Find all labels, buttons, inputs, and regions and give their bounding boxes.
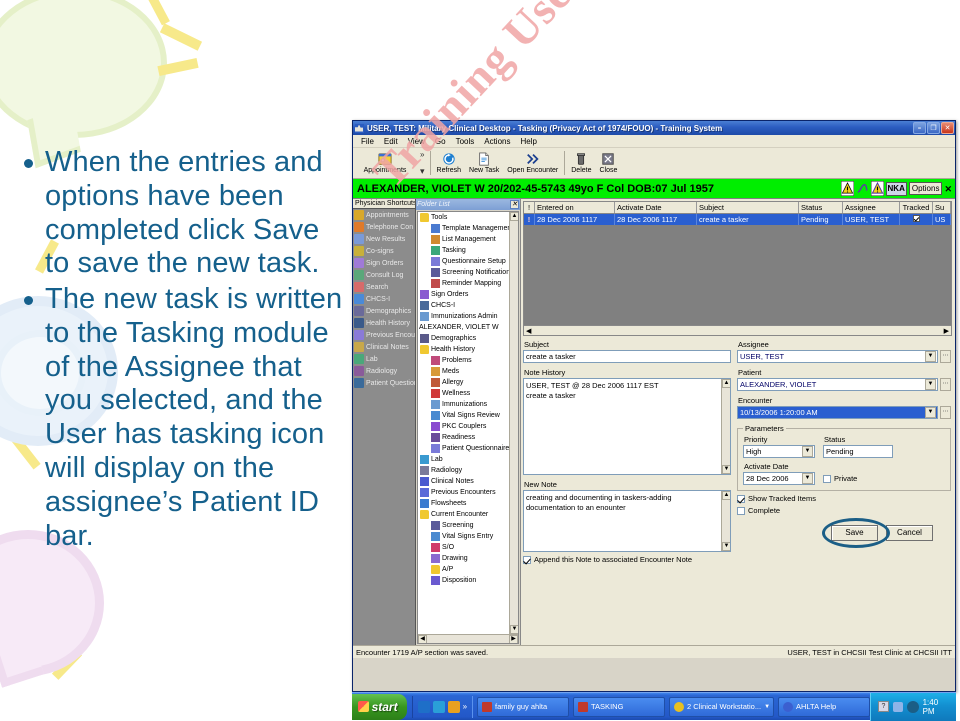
- questionnaire-icon: [431, 257, 440, 266]
- tree-node-label: Current Encounter: [431, 509, 488, 520]
- folder-icon: [420, 345, 429, 354]
- toolbar-label: Refresh: [437, 167, 462, 174]
- status-input: Pending: [823, 445, 893, 458]
- note-history-scrollbar[interactable]: ▲ ▼: [721, 379, 730, 474]
- clinical-notes-icon: [420, 477, 429, 486]
- tree-vertical-scrollbar[interactable]: ▲ ▼: [509, 212, 518, 634]
- encounter-combobox[interactable]: 10/13/2006 1:20:00 AM ▼: [737, 406, 938, 419]
- toolbar: Appointments » ▾ Refresh New Task: [353, 148, 955, 179]
- encounter-row: 10/13/2006 1:20:00 AM ▼ ⋯: [737, 406, 951, 419]
- cell-subject: create a tasker: [697, 214, 799, 225]
- minimize-button[interactable]: –: [913, 122, 926, 134]
- cancel-button[interactable]: Cancel: [886, 525, 933, 541]
- status-context: USER, TEST in CHCSII Test Clinic at CHCS…: [787, 648, 952, 657]
- cell-tracked-checkbox[interactable]: [900, 214, 933, 225]
- taskbar-clock[interactable]: 1:40 PM: [923, 698, 952, 716]
- tree-node-pkc-couplers[interactable]: PKC Couplers: [418, 421, 518, 432]
- internet-explorer-icon[interactable]: [418, 701, 430, 713]
- shortcut-item-telephone-con[interactable]: Telephone Con: [353, 221, 415, 233]
- start-label: start: [372, 700, 398, 714]
- folder-tree[interactable]: ToolsTemplate ManagementList ManagementT…: [417, 211, 519, 644]
- scroll-down-arrow-icon[interactable]: ▼: [510, 625, 519, 634]
- tree-node-label: A/P: [442, 564, 453, 575]
- tree-node-wellness[interactable]: Wellness: [418, 388, 518, 399]
- assignee-value: USER, TEST: [740, 352, 925, 361]
- parameters-groupbox: Parameters Priority High ▼ Status: [737, 424, 951, 491]
- signature-pen-icon[interactable]: [856, 181, 869, 196]
- tree-node-clinical-notes[interactable]: Clinical Notes: [418, 476, 518, 487]
- immunizations-icon: [431, 400, 440, 409]
- refresh-icon: [442, 152, 456, 166]
- tree-node-vital-signs-review[interactable]: Vital Signs Review: [418, 410, 518, 421]
- tree-node-label: Readiness: [442, 432, 475, 443]
- tree-node-sign-orders[interactable]: Sign Orders: [418, 289, 518, 300]
- new-note-textarea[interactable]: creating and documenting in taskers-addi…: [523, 490, 731, 552]
- decorative-ray: [144, 0, 170, 25]
- tree-node-label: Tasking: [442, 245, 466, 256]
- physician-shortcuts-list: AppointmentsTelephone ConNew ResultsCo-s…: [353, 209, 415, 389]
- list-icon: [431, 235, 440, 244]
- shortcut-item-chcs-i[interactable]: CHCS-I: [353, 293, 415, 305]
- column-header-entered-on[interactable]: Entered on: [535, 202, 615, 213]
- tree-node-label: Allergy: [442, 377, 463, 388]
- sign-orders-icon: [420, 290, 429, 299]
- shortcut-label: Telephone Con: [366, 224, 413, 231]
- tree-node-questionnaire-setup[interactable]: Questionnaire Setup: [418, 256, 518, 267]
- tree-node-radiology[interactable]: Radiology: [418, 465, 518, 476]
- tree-node-list-management[interactable]: List Management: [418, 234, 518, 245]
- private-checkbox[interactable]: [823, 475, 831, 483]
- toolbar-button-appointments[interactable]: Appointments: [353, 148, 417, 178]
- tray-network-icon[interactable]: [893, 702, 903, 712]
- tree-node-label: Disposition: [442, 575, 476, 586]
- patient-bar-options-button[interactable]: Options: [909, 182, 943, 195]
- shortcut-icon: [354, 318, 364, 328]
- windows-flag-icon: [358, 701, 369, 712]
- windows-taskbar: start » family guy ahlta TASKING 2 Clini…: [352, 692, 956, 720]
- toolbar-separator: [564, 151, 565, 175]
- activate-date-field: Activate Date 28 Dec 2006 ▼: [743, 462, 815, 485]
- folder-list-close-icon[interactable]: ✕: [510, 200, 519, 209]
- chevron-down-icon[interactable]: ▼: [764, 704, 770, 710]
- scroll-up-arrow-icon[interactable]: ▲: [510, 212, 519, 221]
- parameters-legend: Parameters: [743, 424, 786, 433]
- scroll-right-arrow-icon[interactable]: ▶: [942, 327, 951, 335]
- tree-node-alexander-violet-w[interactable]: ALEXANDER, VIOLET W: [418, 322, 518, 333]
- new-task-icon: [477, 152, 491, 166]
- close-icon: [601, 152, 615, 166]
- shortcut-icon: [354, 330, 364, 340]
- allergy-status-badge[interactable]: NKA: [886, 182, 907, 196]
- tray-unknown-icon[interactable]: ?: [878, 701, 889, 712]
- shortcut-item-appointments[interactable]: Appointments: [353, 209, 415, 221]
- patient-demographics-text: ALEXANDER, VIOLET W 20/202-45-5743 49yo …: [357, 183, 839, 195]
- menu-item-file[interactable]: File: [356, 136, 379, 147]
- so-icon: [431, 543, 440, 552]
- show-tracked-items-checkbox[interactable]: [737, 495, 745, 503]
- questionnaire-icon: [431, 444, 440, 453]
- chcs-icon: [420, 301, 429, 310]
- open-encounter-icon: [526, 152, 540, 166]
- folder-list-title: Folder List: [417, 201, 510, 208]
- toolbar-button-close[interactable]: Close: [595, 148, 621, 178]
- toolbar-button-delete[interactable]: Delete: [567, 148, 595, 178]
- tree-node-label: Wellness: [442, 388, 470, 399]
- tree-node-label: Flowsheets: [431, 498, 466, 509]
- meds-icon: [431, 367, 440, 376]
- note-history-value: USER, TEST @ 28 Dec 2006 1117 EST create…: [526, 381, 728, 400]
- shortcut-label: CHCS-I: [366, 296, 390, 303]
- tree-node-tasking[interactable]: Tasking: [418, 245, 518, 256]
- new-note-label: New Note: [524, 480, 731, 489]
- decorative-ray: [52, 649, 82, 680]
- tasking-icon: [431, 246, 440, 255]
- shortcut-label: Appointments: [366, 212, 409, 219]
- window-body: Physician Shortcuts AppointmentsTelephon…: [353, 199, 955, 645]
- tree-node-label: Patient Questionnaires: [442, 443, 513, 454]
- tree-node-problems[interactable]: Problems: [418, 355, 518, 366]
- window-title: USER, TEST: Military Clinical Desktop - …: [367, 124, 912, 133]
- cell-status: Pending: [799, 214, 843, 225]
- tree-node-label: Health History: [431, 344, 475, 355]
- screening-icon: [431, 521, 440, 530]
- private-checkbox-row[interactable]: Private: [823, 474, 857, 483]
- tasking-alert-icon[interactable]: [871, 181, 884, 196]
- subject-input[interactable]: create a tasker: [523, 350, 731, 363]
- decorative-pink-bubble-tail: [0, 630, 44, 687]
- scroll-down-arrow-icon[interactable]: ▼: [722, 465, 731, 474]
- table-row[interactable]: ! 28 Dec 2006 1117 28 Dec 2006 1117 crea…: [524, 214, 951, 225]
- shortcut-item-patient-question[interactable]: Patient Question: [353, 377, 415, 389]
- tree-node-reminder-mapping[interactable]: Reminder Mapping: [418, 278, 518, 289]
- cell-activate-date: 28 Dec 2006 1117: [615, 214, 697, 225]
- toolbar-label: Close: [599, 167, 617, 174]
- tree-node-label: Lab: [431, 454, 443, 465]
- tree-node-immunizations[interactable]: Immunizations: [418, 399, 518, 410]
- tree-horizontal-scrollbar[interactable]: ◀ ▶: [418, 634, 518, 643]
- taskbar-item-ahlta-help[interactable]: AHLTA Help: [778, 697, 870, 717]
- allergy-icon: [431, 378, 440, 387]
- append-note-label: Append this Note to associated Encounter…: [534, 556, 692, 565]
- tree-node-vital-signs-entry[interactable]: Vital Signs Entry: [418, 531, 518, 542]
- save-button[interactable]: Save: [831, 525, 878, 541]
- menu-bar: File Edit View Go Tools Actions Help: [353, 135, 955, 148]
- parameters-row-2: Activate Date 28 Dec 2006 ▼ Private: [743, 462, 945, 485]
- disposition-icon: [431, 576, 440, 585]
- shortcut-label: Clinical Notes: [366, 344, 409, 351]
- ahlta-icon: [674, 702, 684, 712]
- new-note-value: creating and documenting in taskers-addi…: [526, 493, 728, 512]
- tree-node-a-p[interactable]: A/P: [418, 564, 518, 575]
- calendar-icon: [378, 152, 392, 166]
- quicklaunch-overflow-icon[interactable]: »: [463, 702, 467, 711]
- column-header-activate-date[interactable]: Activate Date: [615, 202, 697, 213]
- shortcut-label: Sign Orders: [366, 260, 403, 267]
- tree-node-readiness[interactable]: Readiness: [418, 432, 518, 443]
- column-header-su[interactable]: Su: [933, 202, 951, 213]
- tree-node-label: Drawing: [442, 553, 468, 564]
- system-tray: ? 1:40 PM: [870, 693, 956, 721]
- shortcut-label: Co-signs: [366, 248, 394, 255]
- encounter-value: 10/13/2006 1:20:00 AM: [740, 408, 925, 417]
- start-button[interactable]: start: [352, 694, 407, 720]
- decorative-ray: [160, 23, 202, 50]
- complete-label: Complete: [748, 506, 780, 515]
- patient-lookup-button[interactable]: ⋯: [940, 378, 951, 391]
- status-message: Encounter 1719 A/P section was saved.: [356, 648, 787, 657]
- scroll-right-arrow-icon[interactable]: ▶: [509, 635, 518, 644]
- shortcut-label: New Results: [366, 236, 405, 243]
- chevron-down-icon[interactable]: ▼: [925, 351, 936, 362]
- patient-value: ALEXANDER, VIOLET: [740, 380, 925, 389]
- template-icon: [431, 224, 440, 233]
- menu-item-help[interactable]: Help: [515, 136, 541, 147]
- cell-entered-on: 28 Dec 2006 1117: [535, 214, 615, 225]
- shortcut-label: Lab: [366, 356, 378, 363]
- readiness-icon: [431, 433, 440, 442]
- shortcut-icon: [354, 306, 364, 316]
- shortcut-label: Patient Question: [366, 380, 416, 387]
- tree-node-label: Immunizations Admin: [431, 311, 498, 322]
- encounter-lookup-button[interactable]: ⋯: [940, 406, 951, 419]
- chevron-down-icon[interactable]: ▼: [925, 379, 936, 390]
- encounter-label: Encounter: [738, 396, 951, 405]
- tree-node-label: PKC Couplers: [442, 421, 486, 432]
- physician-shortcuts-panel: Physician Shortcuts AppointmentsTelephon…: [353, 199, 416, 645]
- tree-node-screening[interactable]: Screening: [418, 520, 518, 531]
- alert-warning-icon[interactable]: [841, 181, 854, 196]
- subject-label: Subject: [524, 340, 731, 349]
- shortcut-item-health-history[interactable]: Health History: [353, 317, 415, 329]
- close-button[interactable]: ✕: [941, 122, 954, 134]
- chevron-down-icon: ▾: [420, 166, 425, 177]
- column-header-subject[interactable]: Subject: [697, 202, 799, 213]
- priority-combobox[interactable]: High ▼: [743, 445, 815, 458]
- show-tracked-items-label: Show Tracked Items: [748, 494, 816, 503]
- decorative-green-bubble: [0, 0, 167, 138]
- status-field: Status Pending: [823, 435, 893, 458]
- patient-combobox[interactable]: ALEXANDER, VIOLET ▼: [737, 378, 938, 391]
- scroll-left-arrow-icon[interactable]: ◀: [524, 327, 533, 335]
- menu-item-go[interactable]: Go: [430, 136, 451, 147]
- shortcut-item-radiology[interactable]: Radiology: [353, 365, 415, 377]
- immunizations-icon: [420, 312, 429, 321]
- drawing-icon: [431, 554, 440, 563]
- tree-node-label: List Management: [442, 234, 496, 245]
- tree-node-label: Vital Signs Review: [442, 410, 500, 421]
- priority-field: Priority High ▼: [743, 435, 815, 458]
- patient-id-bar: ALEXANDER, VIOLET W 20/202-45-5743 49yo …: [353, 179, 955, 199]
- tree-node-chcs-i[interactable]: CHCS-I: [418, 300, 518, 311]
- folder-icon: [420, 213, 429, 222]
- task-grid-header-row: ! Entered on Activate Date Subject Statu…: [524, 202, 951, 214]
- shortcut-item-new-results[interactable]: New Results: [353, 233, 415, 245]
- folder-icon[interactable]: [448, 701, 460, 713]
- toolbar-button-refresh[interactable]: Refresh: [433, 148, 466, 178]
- shortcut-icon: [354, 294, 364, 304]
- assignee-label: Assignee: [738, 340, 951, 349]
- window-titlebar[interactable]: USER, TEST: Military Clinical Desktop - …: [353, 121, 955, 135]
- tree-node-drawing[interactable]: Drawing: [418, 553, 518, 564]
- shortcut-item-lab[interactable]: Lab: [353, 353, 415, 365]
- tree-node-label: Screening Notifications: [442, 267, 514, 278]
- menu-item-view[interactable]: View: [403, 136, 430, 147]
- chevron-down-icon[interactable]: ▼: [802, 473, 813, 484]
- taskbar-item-tasking[interactable]: TASKING: [573, 697, 665, 717]
- toolbar-button-open-encounter[interactable]: Open Encounter: [503, 148, 562, 178]
- tree-node-label: Demographics: [431, 333, 476, 344]
- tree-node-disposition[interactable]: Disposition: [418, 575, 518, 586]
- powerpoint-icon: [578, 702, 588, 712]
- tree-node-immunizations-admin[interactable]: Immunizations Admin: [418, 311, 518, 322]
- show-tracked-items-row[interactable]: Show Tracked Items: [737, 494, 951, 503]
- column-header-assignee[interactable]: Assignee: [843, 202, 900, 213]
- tray-sound-icon[interactable]: [907, 701, 919, 713]
- grid-horizontal-scrollbar[interactable]: ◀ ▶: [524, 325, 951, 335]
- shortcut-icon: [354, 234, 364, 244]
- complete-row[interactable]: Complete: [737, 506, 951, 515]
- tree-node-template-management[interactable]: Template Management: [418, 223, 518, 234]
- demographics-icon: [420, 334, 429, 343]
- assignee-lookup-button[interactable]: ⋯: [940, 350, 951, 363]
- activate-date-label: Activate Date: [744, 462, 815, 471]
- quick-launch-bar: »: [412, 696, 473, 718]
- application-icon: [355, 124, 364, 133]
- scroll-up-arrow-icon[interactable]: ▲: [722, 379, 731, 388]
- tree-node-allergy[interactable]: Allergy: [418, 377, 518, 388]
- pkc-icon: [431, 422, 440, 431]
- column-header-tracked[interactable]: Tracked: [900, 202, 933, 213]
- shortcut-item-demographics[interactable]: Demographics: [353, 305, 415, 317]
- tree-node-meds[interactable]: Meds: [418, 366, 518, 377]
- note-history-label: Note History: [524, 368, 731, 377]
- tree-node-label: Clinical Notes: [431, 476, 474, 487]
- tree-node-health-history[interactable]: Health History: [418, 344, 518, 355]
- tree-node-previous-encounters[interactable]: Previous Encounters: [418, 487, 518, 498]
- shortcut-item-clinical-notes[interactable]: Clinical Notes: [353, 341, 415, 353]
- shortcut-icon: [354, 378, 364, 388]
- shortcut-item-sign-orders[interactable]: Sign Orders: [353, 257, 415, 269]
- powerpoint-icon: [482, 702, 492, 712]
- append-note-checkbox[interactable]: [523, 556, 531, 564]
- folder-list-header[interactable]: Folder List ✕: [416, 199, 520, 210]
- shortcut-icon: [354, 354, 364, 364]
- menu-item-tools[interactable]: Tools: [451, 136, 480, 147]
- priority-label: Priority: [744, 435, 815, 444]
- lab-icon: [420, 455, 429, 464]
- shortcut-label: Previous Encou: [366, 332, 415, 339]
- tree-node-lab[interactable]: Lab: [418, 454, 518, 465]
- list-item: When the entries and options have been c…: [10, 146, 344, 281]
- bullet-text: The new task is written to the Tasking m…: [45, 283, 344, 553]
- tree-node-label: Vital Signs Entry: [442, 531, 493, 542]
- patient-row: ALEXANDER, VIOLET ▼ ⋯: [737, 378, 951, 391]
- scroll-left-arrow-icon[interactable]: ◀: [418, 635, 427, 644]
- activate-date-combobox[interactable]: 28 Dec 2006 ▼: [743, 472, 815, 485]
- parameters-row-1: Priority High ▼ Status Pending: [743, 435, 945, 458]
- scroll-up-arrow-icon[interactable]: ▲: [722, 491, 731, 500]
- taskbar-item-family-guy-ahlta[interactable]: family guy ahlta: [477, 697, 569, 717]
- toolbar-overflow-button[interactable]: » ▾: [417, 148, 428, 178]
- problems-icon: [431, 356, 440, 365]
- chevron-down-icon[interactable]: ▼: [925, 407, 936, 418]
- tree-node-screening-notifications[interactable]: Screening Notifications: [418, 267, 518, 278]
- column-header-priority[interactable]: !: [524, 202, 535, 213]
- chevron-down-icon[interactable]: ▼: [802, 446, 813, 457]
- browser-icon[interactable]: [433, 701, 445, 713]
- toolbar-button-new-task[interactable]: New Task: [465, 148, 503, 178]
- help-icon: [783, 702, 793, 712]
- tree-node-demographics[interactable]: Demographics: [418, 333, 518, 344]
- delete-icon: [574, 152, 588, 166]
- reminder-icon: [431, 279, 440, 288]
- toolbar-separator: [430, 151, 431, 175]
- tree-node-patient-questionnaires[interactable]: Patient Questionnaires: [418, 443, 518, 454]
- shortcut-icon: [354, 342, 364, 352]
- shortcut-label: Search: [366, 284, 388, 291]
- note-history-textarea[interactable]: USER, TEST @ 28 Dec 2006 1117 EST create…: [523, 378, 731, 475]
- list-item: The new task is written to the Tasking m…: [10, 283, 344, 553]
- slide-bullet-list: When the entries and options have been c…: [10, 146, 344, 555]
- shortcut-item-search[interactable]: Search: [353, 281, 415, 293]
- tree-node-flowsheets[interactable]: Flowsheets: [418, 498, 518, 509]
- taskbar-item-label: TASKING: [591, 702, 623, 711]
- private-label: Private: [834, 474, 857, 483]
- form-left-column: Subject create a tasker Note History USE…: [523, 340, 731, 645]
- shortcut-item-co-signs[interactable]: Co-signs: [353, 245, 415, 257]
- menu-item-edit[interactable]: Edit: [379, 136, 403, 147]
- decorative-ray: [157, 58, 198, 76]
- priority-value: High: [746, 447, 802, 456]
- form-right-column: Assignee USER, TEST ▼ ⋯ Patient ALEXANDE…: [737, 340, 951, 645]
- task-grid-empty-area: [524, 225, 951, 325]
- vitals-icon: [431, 532, 440, 541]
- application-window: USER, TEST: Military Clinical Desktop - …: [352, 120, 956, 692]
- new-note-scrollbar[interactable]: ▲ ▼: [721, 491, 730, 551]
- patient-label: Patient: [738, 368, 951, 377]
- assignee-combobox[interactable]: USER, TEST ▼: [737, 350, 938, 363]
- complete-checkbox[interactable]: [737, 507, 745, 515]
- column-header-status[interactable]: Status: [799, 202, 843, 213]
- taskbar-item-label: family guy ahlta: [495, 702, 547, 711]
- private-field: Private: [823, 462, 857, 485]
- shortcut-item-consult-log[interactable]: Consult Log: [353, 269, 415, 281]
- shortcut-icon: [354, 270, 364, 280]
- taskbar-item-clinical-workstation[interactable]: 2 Clinical Workstatio... ▼: [669, 697, 774, 717]
- tree-node-tools[interactable]: Tools: [418, 212, 518, 223]
- restore-button[interactable]: ❐: [927, 122, 940, 134]
- append-note-checkbox-row[interactable]: Append this Note to associated Encounter…: [523, 556, 731, 565]
- folder-list-panel: Folder List ✕ ToolsTemplate ManagementLi…: [416, 199, 521, 645]
- chevron-right-icon: »: [420, 150, 425, 159]
- tree-node-label: Template Management: [442, 223, 513, 234]
- folder-icon: [420, 510, 429, 519]
- scroll-down-arrow-icon[interactable]: ▼: [722, 542, 731, 551]
- tree-node-label: ALEXANDER, VIOLET W: [419, 322, 499, 333]
- folder-tree-nodes: ToolsTemplate ManagementList ManagementT…: [418, 212, 518, 586]
- status-bar: Encounter 1719 A/P section was saved. US…: [353, 645, 955, 658]
- patient-bar-close-icon[interactable]: ✕: [944, 183, 952, 195]
- radiology-icon: [420, 466, 429, 475]
- shortcut-label: Demographics: [366, 308, 411, 315]
- menu-item-actions[interactable]: Actions: [479, 136, 515, 147]
- shortcut-item-previous-encou[interactable]: Previous Encou: [353, 329, 415, 341]
- physician-shortcuts-title: Physician Shortcuts: [353, 199, 415, 209]
- tree-node-s-o[interactable]: S/O: [418, 542, 518, 553]
- tree-node-current-encounter[interactable]: Current Encounter: [418, 509, 518, 520]
- bullet-text: When the entries and options have been c…: [45, 146, 344, 281]
- shortcut-label: Consult Log: [366, 272, 403, 279]
